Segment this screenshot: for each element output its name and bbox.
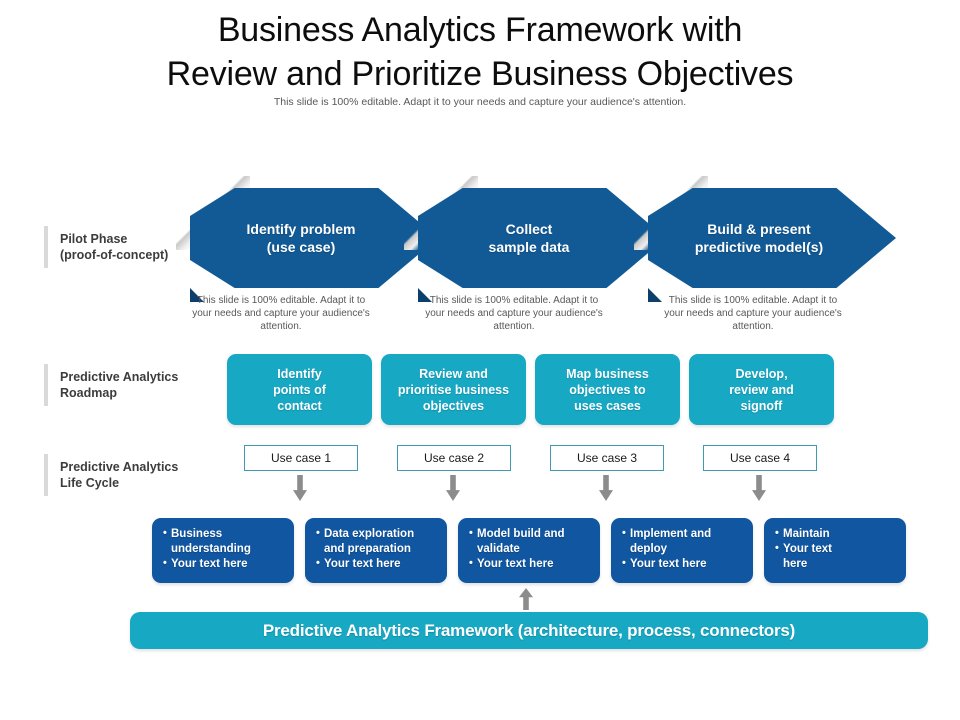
lifecycle-bullet: Your text here (316, 557, 437, 572)
lifecycle-bullet: Implement and deploy (622, 527, 743, 557)
framework-banner[interactable]: Predictive Analytics Framework (architec… (130, 612, 928, 649)
down-arrow-icon-1 (293, 475, 307, 501)
row-accent-bar (44, 454, 48, 496)
phase-description-3: This slide is 100% editable. Adapt it to… (658, 294, 848, 333)
phase-arrow-identify-problem[interactable]: Identify problem (use case) (190, 188, 438, 288)
phase-arrow-label: Build & present predictive model(s) (695, 220, 823, 256)
row-accent-bar (44, 364, 48, 406)
roadmap-box-label: Review and prioritise business objective… (398, 366, 509, 414)
roadmap-box-label: Develop, review and signoff (729, 366, 794, 414)
lifecycle-bullet-list: Data exploration and preparation Your te… (316, 527, 437, 572)
page-title-line-1: Business Analytics Framework with (0, 8, 960, 52)
phase-arrow-build-present-predictive-models[interactable]: Build & present predictive model(s) (648, 188, 896, 288)
use-case-box-1[interactable]: Use case 1 (244, 445, 358, 471)
row-label-pilot-phase: Pilot Phase (proof-of-concept) (44, 226, 168, 268)
use-case-box-3[interactable]: Use case 3 (550, 445, 664, 471)
use-case-box-2[interactable]: Use case 2 (397, 445, 511, 471)
lifecycle-box-implement-and-deploy[interactable]: Implement and deploy Your text here (611, 518, 753, 583)
page-title-line-2: Review and Prioritize Business Objective… (0, 52, 960, 96)
lifecycle-bullet: Your text here (163, 557, 284, 572)
row-label-text: Predictive Analytics Life Cycle (60, 459, 178, 491)
lifecycle-box-data-exploration-and-preparation[interactable]: Data exploration and preparation Your te… (305, 518, 447, 583)
row-accent-bar (44, 226, 48, 268)
phase-arrow-label: Identify problem (use case) (247, 220, 356, 256)
lifecycle-bullet: Your text here (469, 557, 590, 572)
lifecycle-bullet-list: Model build and validate Your text here (469, 527, 590, 572)
page-title: Business Analytics Framework with Review… (0, 8, 960, 96)
roadmap-box-identify-points-of-contact[interactable]: Identify points of contact (227, 354, 372, 425)
lifecycle-box-maintain[interactable]: Maintain Your text here (764, 518, 906, 583)
roadmap-box-label: Map business objectives to uses cases (566, 366, 649, 414)
lifecycle-bullet: Your text here (775, 542, 896, 572)
roadmap-box-review-and-prioritise-business-objectives[interactable]: Review and prioritise business objective… (381, 354, 526, 425)
lifecycle-bullet: Your text here (622, 557, 743, 572)
roadmap-box-develop-review-and-signoff[interactable]: Develop, review and signoff (689, 354, 834, 425)
roadmap-box-label: Identify points of contact (273, 366, 326, 414)
up-arrow-icon (519, 588, 533, 610)
lifecycle-bullet: Maintain (775, 527, 896, 542)
row-label-predictive-analytics-life-cycle: Predictive Analytics Life Cycle (44, 454, 178, 496)
lifecycle-box-business-understanding[interactable]: Business understanding Your text here (152, 518, 294, 583)
framework-banner-label: Predictive Analytics Framework (architec… (263, 621, 795, 641)
phase-arrow-label: Collect sample data (489, 220, 570, 256)
lifecycle-bullet: Business understanding (163, 527, 284, 557)
phase-description-1: This slide is 100% editable. Adapt it to… (186, 294, 376, 333)
lifecycle-bullet: Model build and validate (469, 527, 590, 557)
row-label-text: Predictive Analytics Roadmap (60, 369, 178, 401)
lifecycle-bullet-list: Business understanding Your text here (163, 527, 284, 572)
page-subtitle: This slide is 100% editable. Adapt it to… (0, 96, 960, 108)
down-arrow-icon-2 (446, 475, 460, 501)
down-arrow-icon-3 (599, 475, 613, 501)
roadmap-box-map-business-objectives-to-use-cases[interactable]: Map business objectives to uses cases (535, 354, 680, 425)
lifecycle-bullet-list: Maintain Your text here (775, 527, 896, 572)
slide-canvas: Business Analytics Framework with Review… (0, 0, 960, 720)
row-label-text: Pilot Phase (proof-of-concept) (60, 231, 168, 263)
lifecycle-bullet: Data exploration and preparation (316, 527, 437, 557)
lifecycle-bullet-list: Implement and deploy Your text here (622, 527, 743, 572)
down-arrow-icon-4 (752, 475, 766, 501)
phase-description-2: This slide is 100% editable. Adapt it to… (419, 294, 609, 333)
lifecycle-box-model-build-and-validate[interactable]: Model build and validate Your text here (458, 518, 600, 583)
row-label-predictive-analytics-roadmap: Predictive Analytics Roadmap (44, 364, 178, 406)
use-case-box-4[interactable]: Use case 4 (703, 445, 817, 471)
phase-arrow-collect-sample-data[interactable]: Collect sample data (418, 188, 666, 288)
